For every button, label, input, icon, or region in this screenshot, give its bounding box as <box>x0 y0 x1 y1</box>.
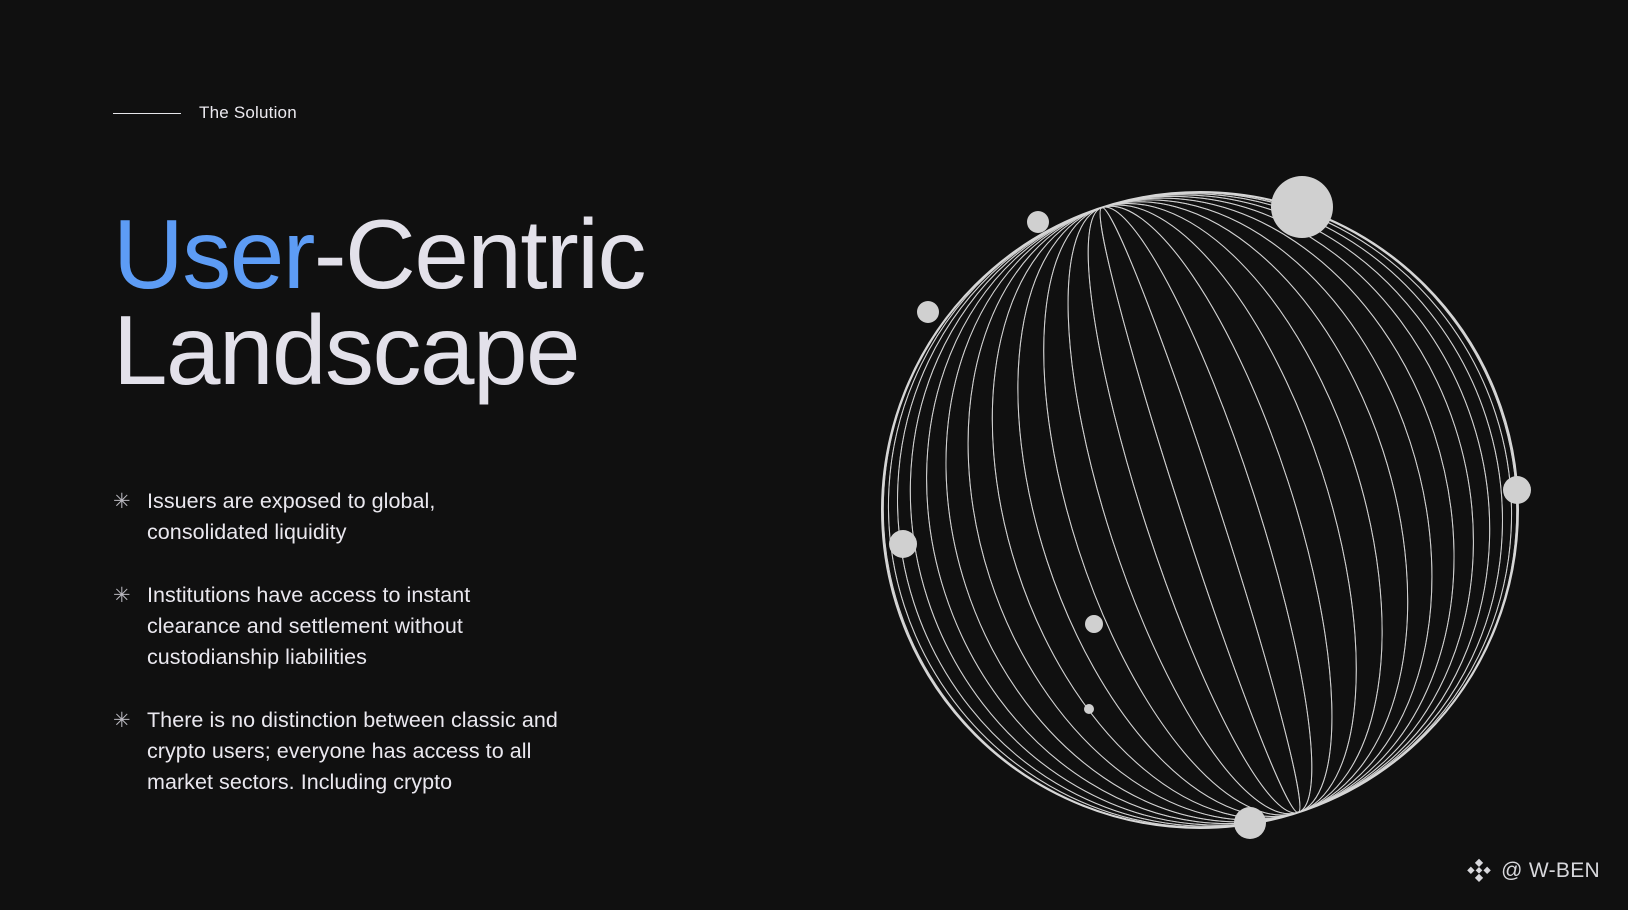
sphere-ring <box>847 125 1554 870</box>
sphere-ring <box>806 112 1580 870</box>
sphere-ring <box>867 131 1532 870</box>
sphere-ring <box>948 158 1451 862</box>
list-item: ✳ Issuers are exposed to global, consoli… <box>113 486 673 548</box>
list-item-text: Issuers are exposed to global, consolida… <box>147 486 435 548</box>
eyebrow-rule <box>113 113 181 114</box>
sphere-ring <box>829 119 1571 870</box>
asterisk-icon: ✳ <box>113 486 147 517</box>
sphere-ring <box>829 119 1571 870</box>
watermark: @ W-BEN <box>1466 858 1600 884</box>
binance-diamond-logo-icon <box>1466 858 1492 884</box>
asterisk-icon: ✳ <box>113 705 147 736</box>
watermark-handle: @ W-BEN <box>1501 859 1600 883</box>
title-line2: Landscape <box>113 295 579 405</box>
node-right <box>1503 476 1531 504</box>
sphere-rings <box>801 110 1580 870</box>
bullet-list: ✳ Issuers are exposed to global, consoli… <box>113 486 673 798</box>
list-item: ✳ There is no distinction between classi… <box>113 705 673 798</box>
sphere-ring <box>1014 179 1387 841</box>
node-mid-left <box>889 530 917 558</box>
sphere-ring <box>980 168 1420 852</box>
asterisk-icon: ✳ <box>113 580 147 611</box>
node-upper-left <box>917 301 939 323</box>
section-eyebrow: The Solution <box>113 103 297 123</box>
node-inner-lower <box>1084 704 1094 714</box>
sphere-ring <box>919 148 1481 870</box>
sphere-ring <box>806 112 1580 870</box>
list-item: ✳ Institutions have access to instant cl… <box>113 580 673 673</box>
slide-root: The Solution User-Centric Landscape ✳ Is… <box>0 0 1628 910</box>
sphere-ring <box>801 110 1580 870</box>
title-rest-line1: -Centric <box>314 199 645 309</box>
sphere-svg <box>800 110 1580 870</box>
sphere-ring <box>980 168 1420 852</box>
title-accent-word: User <box>113 199 314 309</box>
content-column: The Solution User-Centric Landscape ✳ Is… <box>113 0 753 910</box>
sphere-ring <box>847 125 1554 870</box>
eyebrow-label: The Solution <box>199 103 297 123</box>
sphere-ring <box>1014 179 1387 841</box>
list-item-text: Institutions have access to instant clea… <box>147 580 470 673</box>
page-title: User-Centric Landscape <box>113 206 753 398</box>
sphere-ring <box>1084 202 1316 818</box>
sphere-ring <box>816 115 1580 870</box>
sphere-ring <box>948 158 1451 862</box>
node-top-right-large <box>1271 176 1333 238</box>
sphere-ring <box>1084 202 1316 818</box>
sphere-ring <box>867 131 1532 870</box>
sphere-ring <box>892 139 1509 870</box>
node-inner-upper <box>1085 615 1103 633</box>
sphere-ring <box>816 115 1580 870</box>
node-bottom <box>1234 807 1266 839</box>
sphere-ring <box>892 139 1509 870</box>
sphere-ring <box>801 110 1580 870</box>
sphere-ring <box>919 148 1481 870</box>
wireframe-sphere-graphic <box>800 110 1580 870</box>
node-top-left-small <box>1027 211 1049 233</box>
list-item-text: There is no distinction between classic … <box>147 705 558 798</box>
